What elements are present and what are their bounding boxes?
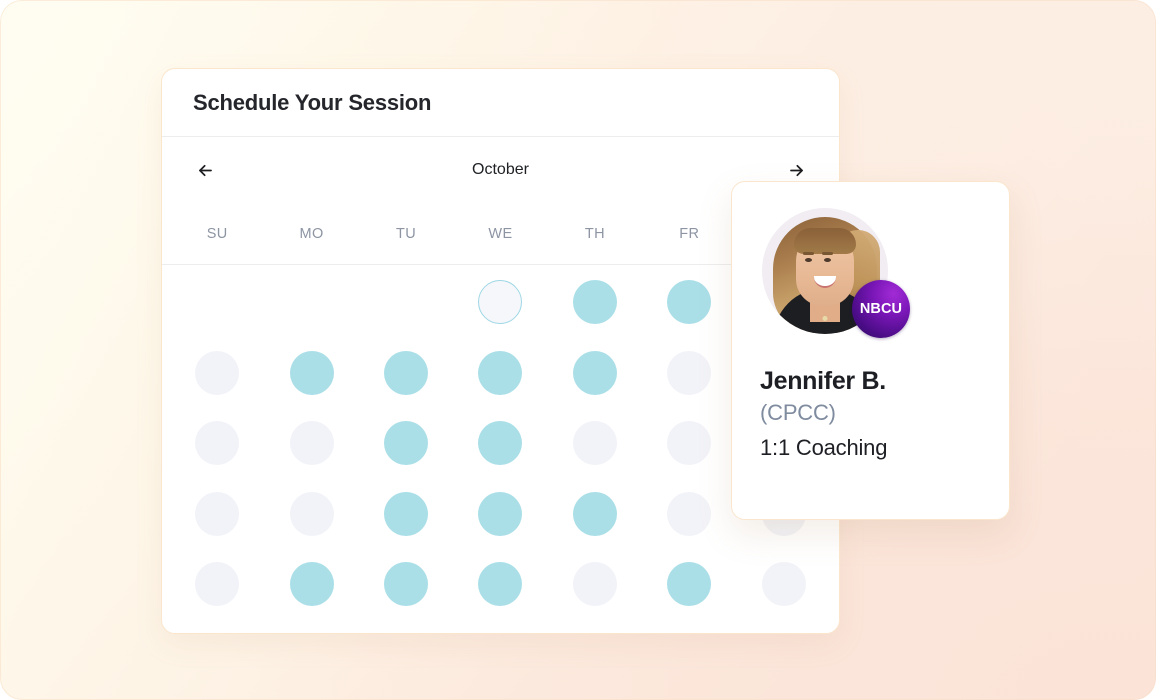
calendar-cell[interactable] (548, 408, 642, 479)
slot-dot-fr-r4-inactive (667, 492, 711, 536)
slot-dot-fr-r3-inactive (667, 421, 711, 465)
calendar-cell (170, 267, 264, 338)
calendar-cell[interactable] (170, 549, 264, 620)
slot-dot-su-r5-inactive (195, 562, 239, 606)
page-title: Schedule Your Session (193, 90, 431, 116)
slot-dot-fr-r2-inactive (667, 351, 711, 395)
slot-dot-we-r3-available[interactable] (478, 421, 522, 465)
month-label: October (192, 161, 809, 179)
calendar-cell[interactable] (359, 408, 453, 479)
calendar-cell[interactable] (453, 479, 547, 550)
slot-dot-su-r3-inactive (195, 421, 239, 465)
slot-dot-su-r1-empty (195, 280, 239, 324)
slot-dot-tu-r3-available[interactable] (384, 421, 428, 465)
slot-dot-sa-r5-inactive (762, 562, 806, 606)
calendar-cell[interactable] (642, 549, 736, 620)
portrait-eye-right (824, 258, 831, 262)
calendar-cell[interactable] (548, 267, 642, 338)
calendar-cell (264, 267, 358, 338)
calendar-cell[interactable] (453, 267, 547, 338)
calendar-cell[interactable] (264, 479, 358, 550)
slot-dot-we-r4-available[interactable] (478, 492, 522, 536)
day-header-su: SU (170, 226, 264, 242)
nbcu-badge-icon: NBCU (852, 280, 910, 338)
slot-dot-th-r4-available[interactable] (573, 492, 617, 536)
calendar-cell[interactable] (642, 408, 736, 479)
coach-card[interactable]: NBCU Jennifer B. (CPCC) 1:1 Coaching (731, 181, 1010, 520)
slot-dot-mo-r3-inactive (290, 421, 334, 465)
slot-dot-we-r1-selected[interactable] (478, 280, 522, 324)
calendar-cell[interactable] (170, 479, 264, 550)
portrait-brow-left (803, 252, 814, 255)
portrait-fringe (794, 228, 856, 254)
slot-dot-th-r2-available[interactable] (573, 351, 617, 395)
next-month-button[interactable] (783, 157, 809, 183)
calendar-cell[interactable] (359, 549, 453, 620)
day-header-tu: TU (359, 226, 453, 242)
calendar-cell[interactable] (737, 549, 831, 620)
slot-dot-fr-r1-available[interactable] (667, 280, 711, 324)
slot-dot-th-r5-inactive (573, 562, 617, 606)
coach-service-type: 1:1 Coaching (760, 435, 981, 461)
calendar-cell[interactable] (548, 479, 642, 550)
day-header-fr: FR (642, 226, 736, 242)
nbcu-badge-label: NBCU (860, 301, 902, 317)
day-header-mo: MO (264, 226, 358, 242)
day-header-we: WE (453, 226, 547, 242)
arrow-right-icon (787, 161, 806, 180)
slot-dot-we-r2-available[interactable] (478, 351, 522, 395)
calendar-cell[interactable] (642, 267, 736, 338)
portrait-necklace (823, 316, 828, 321)
calendar-cell (359, 267, 453, 338)
calendar-cell[interactable] (453, 408, 547, 479)
slot-dot-mo-r5-available[interactable] (290, 562, 334, 606)
calendar-cell[interactable] (359, 479, 453, 550)
calendar-cell[interactable] (264, 408, 358, 479)
prev-month-button[interactable] (192, 157, 218, 183)
calendar-cell[interactable] (170, 338, 264, 409)
calendar-cell[interactable] (264, 549, 358, 620)
calendar-cell[interactable] (359, 338, 453, 409)
calendar-cell[interactable] (264, 338, 358, 409)
slot-dot-tu-r5-available[interactable] (384, 562, 428, 606)
slot-dot-su-r4-inactive (195, 492, 239, 536)
coach-certification: (CPCC) (760, 400, 981, 426)
slot-dot-su-r2-inactive (195, 351, 239, 395)
portrait-brow-right (822, 252, 833, 255)
day-header-th: TH (548, 226, 642, 242)
slot-dot-th-r1-available[interactable] (573, 280, 617, 324)
slot-dot-mo-r4-inactive (290, 492, 334, 536)
portrait-eye-left (805, 258, 812, 262)
calendar-cell[interactable] (453, 549, 547, 620)
slot-dot-tu-r2-available[interactable] (384, 351, 428, 395)
page-background: Schedule Your Session October (0, 0, 1156, 700)
slot-dot-mo-r1-empty (290, 280, 334, 324)
calendar-cell[interactable] (548, 549, 642, 620)
slot-dot-th-r3-inactive (573, 421, 617, 465)
slot-dot-we-r5-available[interactable] (478, 562, 522, 606)
calendar-cell[interactable] (642, 338, 736, 409)
avatar-wrapper: NBCU (762, 208, 888, 334)
slot-dot-mo-r2-available[interactable] (290, 351, 334, 395)
calendar-cell[interactable] (642, 479, 736, 550)
arrow-left-icon (196, 161, 215, 180)
calendar-cell[interactable] (453, 338, 547, 409)
scheduler-header: Schedule Your Session (162, 69, 839, 137)
calendar-cell[interactable] (170, 408, 264, 479)
coach-name: Jennifer B. (760, 367, 981, 396)
slot-dot-tu-r1-empty (384, 280, 428, 324)
slot-dot-tu-r4-available[interactable] (384, 492, 428, 536)
slot-dot-fr-r5-available[interactable] (667, 562, 711, 606)
calendar-cell[interactable] (548, 338, 642, 409)
